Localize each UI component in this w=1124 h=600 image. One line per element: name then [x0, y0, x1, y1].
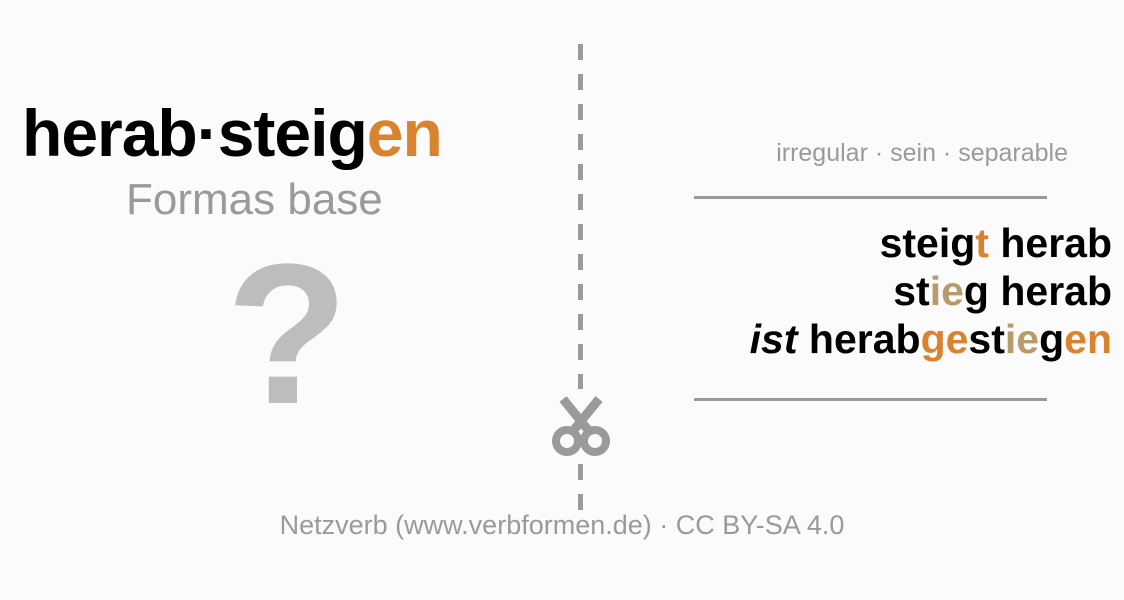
verb-separator-dot: ·	[197, 96, 218, 170]
form-segment-auxiliary: ist	[750, 316, 798, 362]
form-segment-accent2: ie	[1005, 316, 1039, 362]
verb-stem: steig	[218, 96, 367, 170]
divider-rule-bottom	[694, 398, 1047, 401]
scissors-icon	[547, 389, 615, 457]
form-segment-accent2: ie	[930, 268, 964, 314]
form-segment-accent: en	[1064, 316, 1112, 362]
form-segment: herab	[798, 316, 921, 362]
verb-form-present: steigt herab	[624, 219, 1112, 267]
verb-forms-list: steigt herab stieg herab ist herabgestie…	[624, 219, 1124, 363]
form-segment: g	[1039, 316, 1064, 362]
footer-attribution: Netzverb (www.verbformen.de) · CC BY-SA …	[0, 512, 1124, 539]
form-segment: steig	[880, 220, 976, 266]
verb-form-preterite: stieg herab	[624, 267, 1112, 315]
form-segment: g herab	[964, 268, 1112, 314]
form-segment-accent: ge	[921, 316, 969, 362]
divider-rule-top	[694, 196, 1047, 199]
verb-subtitle: Formas base	[126, 178, 383, 222]
form-segment: herab	[989, 220, 1112, 266]
form-segment-accent: t	[975, 220, 989, 266]
verb-prefix: herab	[22, 96, 197, 170]
verb-form-perfect: ist herabgestiegen	[624, 315, 1112, 363]
verb-ending: en	[367, 96, 442, 170]
verb-headword: herab·steigen	[22, 100, 442, 166]
flashcard-canvas: herab·steigen Formas base ? irregular · …	[0, 0, 1124, 600]
form-segment: st	[893, 268, 929, 314]
verb-attributes: irregular · sein · separable	[776, 141, 1068, 166]
form-segment: st	[968, 316, 1004, 362]
answer-placeholder-question-mark: ?	[226, 250, 348, 420]
